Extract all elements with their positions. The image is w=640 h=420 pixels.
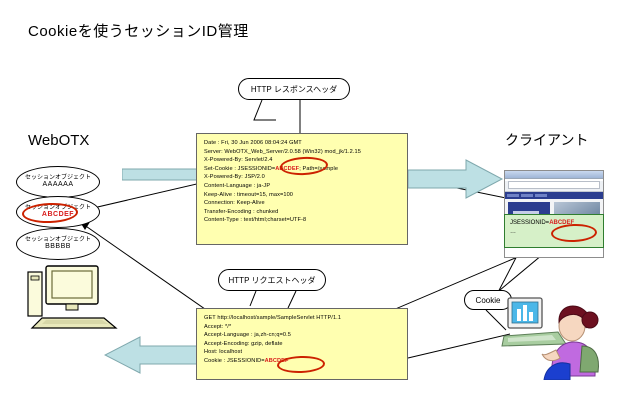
session-object-2: セッションオブジェクト ABCDEF: [16, 196, 100, 228]
client-cookie-prefix: JSESSIONID=: [510, 220, 549, 226]
request-line: Accept-Language : ja,zh-cn;q=0.5: [204, 331, 401, 340]
set-cookie-session-id: ABCDEF: [275, 166, 299, 172]
request-line: Accept: */*: [204, 323, 401, 332]
request-line-cookie: Cookie : JSESSIONID=ABCDEF: [204, 357, 401, 366]
callout-request-header: HTTP リクエストヘッダ: [218, 269, 326, 291]
set-cookie-prefix: Set-Cookie : JSESSIONID=: [204, 166, 275, 172]
response-line: Server: WebOTX_Web_Server/2.0.58 (Win32)…: [204, 148, 401, 157]
http-request-header-box: GET http://localhost/sample/SampleServle…: [196, 308, 408, 380]
http-response-header-box: Date : Fri, 30 Jun 2006 08:04:24 GMT Ser…: [196, 133, 408, 245]
browser-address-bar: [508, 181, 600, 189]
set-cookie-suffix: ; Path=/sample: [299, 166, 338, 172]
browser-nav-strip: [505, 192, 603, 199]
request-line: Accept-Encoding: gzip, deflate: [204, 340, 401, 349]
response-line: X-Powered-By: JSP/2.0: [204, 173, 401, 182]
browser-titlebar: [505, 171, 603, 179]
session-object-id: BBBBB: [45, 243, 71, 250]
nav-item: [507, 194, 519, 197]
response-line: X-Powered-By: Servlet/2.4: [204, 156, 401, 165]
session-object-id: ABCDEF: [42, 211, 74, 218]
page-title: Cookieを使うセッションID管理: [28, 20, 249, 41]
client-cookie-ellipsis: …: [510, 228, 598, 237]
request-line: GET http://localhost/sample/SampleServle…: [204, 314, 401, 323]
callout-response-header: HTTP レスポンスヘッダ: [238, 78, 350, 100]
cookie-prefix: Cookie : JSESSIONID=: [204, 358, 265, 364]
client-cookie-line: JSESSIONID=ABCDEF: [510, 219, 598, 228]
client-heading: クライアント: [505, 130, 588, 150]
response-line: Connection: Keep-Alive: [204, 199, 401, 208]
response-line: Date : Fri, 30 Jun 2006 08:04:24 GMT: [204, 139, 401, 148]
response-flow-bar: [122, 167, 198, 183]
response-line-set-cookie: Set-Cookie : JSESSIONID=ABCDEF; Path=/sa…: [204, 165, 401, 174]
response-line: Keep-Alive : timeout=15, max=100: [204, 191, 401, 200]
client-cookie-session-id: ABCDEF: [549, 220, 574, 226]
response-arrow-to-client: [408, 158, 504, 200]
desktop-computer-icon: [26, 262, 122, 334]
diagram-canvas: Cookieを使うセッションID管理 WebOTX セッションオブジェクト AA…: [0, 0, 640, 420]
response-line: Content-Language : ja-JP: [204, 182, 401, 191]
client-cookie-store: JSESSIONID=ABCDEF …: [504, 214, 604, 248]
session-object-3: セッションオブジェクト BBBBB: [16, 228, 100, 260]
request-line: Host: localhost: [204, 348, 401, 357]
response-line: Content-Type : text/html;charset=UTF-8: [204, 216, 401, 225]
nav-item: [521, 194, 533, 197]
session-object-1: セッションオブジェクト AAAAAA: [16, 166, 100, 198]
server-heading: WebOTX: [28, 132, 89, 149]
nav-item: [535, 194, 547, 197]
cookie-session-id: ABCDEF: [265, 358, 289, 364]
person-at-computer-icon: [500, 292, 612, 380]
response-line: Transfer-Encoding : chunked: [204, 208, 401, 217]
request-arrow-to-server: [104, 336, 198, 376]
browser-toolbar: [505, 181, 603, 192]
session-object-id: AAAAAA: [42, 181, 73, 188]
